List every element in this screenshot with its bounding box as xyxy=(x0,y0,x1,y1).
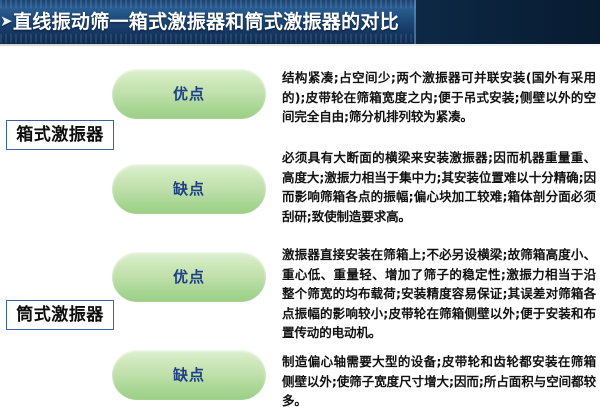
description-disadvantage-box-exciter: 必须具有大断面的横梁来安装激振器;因而机器重量重、高度大;激振力相当于集中力;其… xyxy=(282,148,596,226)
slide-header-banner: ➤ 直线振动筛一箱式激振器和筒式激振器的对比 xyxy=(0,0,600,44)
page-title: 直线振动筛一箱式激振器和筒式激振器的对比 xyxy=(13,9,573,37)
description-advantage-tube-exciter: 激振器直接安装在筛箱上;不必另设横梁;故筛箱高度小、重心低、重量轻、增加了筛子的… xyxy=(282,245,596,343)
category-label-tube-exciter: 筒式激振器 xyxy=(6,300,114,330)
header-bottom-rule xyxy=(0,44,600,46)
description-disadvantage-tube-exciter: 制造偏心轴需要大型的设备;皮带轮和齿轮都安装在筛箱侧壁以外;使筛子宽度尺寸增大;… xyxy=(282,352,596,411)
pill-advantage-tube-exciter[interactable]: 优点 xyxy=(112,252,266,302)
pill-disadvantage-box-exciter[interactable]: 缺点 xyxy=(112,164,266,214)
pill-advantage-box-exciter[interactable]: 优点 xyxy=(112,69,266,119)
pill-disadvantage-tube-exciter[interactable]: 缺点 xyxy=(112,350,266,400)
arrow-bullet-icon: ➤ xyxy=(0,15,12,28)
category-label-box-exciter: 箱式激振器 xyxy=(6,120,114,150)
description-advantage-box-exciter: 结构紧凑;占空间少;两个激振器可并联安装(国外有采用的);皮带轮在筛箱宽度之内;… xyxy=(282,68,596,127)
